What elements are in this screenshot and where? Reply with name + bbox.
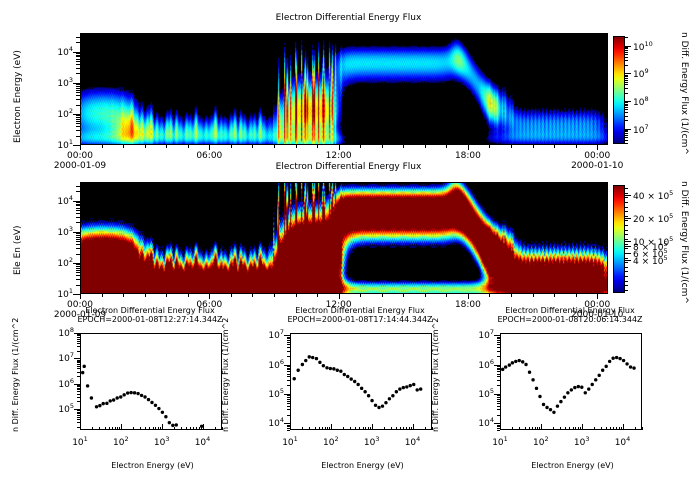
data-point <box>175 423 178 426</box>
colorbar2-tick <box>625 220 628 221</box>
p1-xtick <box>274 145 275 148</box>
p4-xtick <box>290 424 291 430</box>
p2-ytick <box>76 272 80 273</box>
data-point <box>542 403 545 406</box>
p2-ytick-label: 103 <box>47 226 73 238</box>
colorbar2-tick <box>625 234 628 235</box>
data-point <box>388 397 391 400</box>
p1-xtick <box>209 145 210 150</box>
panel1-colorbar-label: n Diff. Energy Flux (1/(cm^ <box>679 32 688 155</box>
colorbar2-tick <box>625 225 628 226</box>
p5-xtick <box>539 427 540 430</box>
p3-ytick <box>77 362 80 363</box>
p1-xtick <box>339 145 340 150</box>
p1-ytick-label: 101 <box>47 139 73 151</box>
data-point <box>367 394 370 397</box>
p1-xtick <box>252 145 253 148</box>
p4-ytick <box>287 371 290 372</box>
p3-ytick <box>77 368 80 369</box>
data-point <box>559 400 562 403</box>
p5-ytick <box>497 430 500 431</box>
p2-xtick <box>166 294 167 297</box>
p5-xtick <box>606 427 607 430</box>
data-point <box>304 359 307 362</box>
p4-ytick <box>287 380 290 381</box>
colorbar2-tick <box>625 285 628 286</box>
data-point <box>339 370 342 373</box>
p1-xtick-label: 00:00 <box>575 152 619 161</box>
p1-ytick <box>76 126 80 127</box>
p1-xtick-label: 18:00 <box>446 152 490 161</box>
data-point <box>409 384 412 387</box>
p1-ytick <box>76 64 80 65</box>
figure-root: Electron Differential Energy Flux Electr… <box>0 0 697 492</box>
p3-xtick <box>193 427 194 430</box>
p3-xtick <box>162 424 163 430</box>
colorbar1-tick <box>625 65 628 66</box>
p1-ytick <box>76 105 80 106</box>
data-point <box>580 386 583 389</box>
p3-xtick <box>199 427 200 430</box>
p4-ytick <box>284 335 290 336</box>
p5-ytick-label: 107 <box>469 329 494 341</box>
p3-xtick <box>203 424 204 430</box>
data-point <box>615 356 618 359</box>
p2-xtick <box>317 294 318 297</box>
data-point <box>563 395 566 398</box>
p3-ytick <box>77 361 80 362</box>
p2-xtick <box>533 294 534 297</box>
p5-ytick <box>494 335 500 336</box>
colorbar1-tick <box>625 116 628 117</box>
p1-ytick-label: 104 <box>47 46 73 58</box>
spectrogram-middle-canvas <box>81 183 607 293</box>
p3-xtick <box>186 427 187 430</box>
p2-ytick <box>76 235 80 236</box>
data-point <box>531 378 534 381</box>
p5-xtick <box>575 427 576 430</box>
data-point <box>632 366 635 369</box>
p4-xtick <box>406 427 407 430</box>
panel5-subtitle: EPOCH=2000-01-08T20:06:14.344Z <box>460 316 680 324</box>
p2-ytick <box>76 213 80 214</box>
p1-xtick <box>382 145 383 148</box>
colorbar1-tick <box>625 102 628 103</box>
panel2-ylabel: Ele En (eV) <box>14 225 23 275</box>
panel1-spectrogram <box>80 33 608 145</box>
p4-xtick <box>309 427 310 430</box>
colorbar1-tick <box>625 73 631 74</box>
data-point <box>350 377 353 380</box>
panel5-plot <box>500 333 642 430</box>
p1-xtick <box>511 145 512 148</box>
p4-xtick-label: 103 <box>356 436 388 448</box>
colorbar1-tick <box>625 112 628 113</box>
p2-ytick <box>76 202 80 203</box>
p2-ytick <box>76 237 80 238</box>
colorbar2-tick <box>625 290 628 291</box>
p1-ytick <box>76 84 80 85</box>
p3-xtick <box>181 427 182 430</box>
panel3-title: Electron Differential Energy Flux <box>40 307 260 315</box>
data-point <box>419 387 422 390</box>
data-point <box>601 369 604 372</box>
colorbar1-tick <box>625 88 628 89</box>
data-point <box>629 365 632 368</box>
data-point <box>511 361 514 364</box>
p5-ytick <box>497 397 500 398</box>
data-point <box>374 404 377 407</box>
p3-ytick <box>77 334 80 335</box>
data-point <box>398 387 401 390</box>
data-point <box>584 391 587 394</box>
p1-ytick <box>76 59 80 60</box>
colorbar2-major-tick <box>625 218 631 219</box>
p3-ytick <box>77 346 80 347</box>
data-point <box>416 388 419 391</box>
p1-ytick <box>76 55 80 56</box>
p3-ytick <box>74 333 80 334</box>
colorbar2-tick <box>625 216 628 217</box>
panel4-xlabel: Electron Energy (eV) <box>280 462 445 470</box>
colorbar2-tick <box>625 197 628 198</box>
p3-ytick <box>77 376 80 377</box>
data-point <box>98 404 101 407</box>
colorbar2-major-tick <box>625 241 631 242</box>
data-point <box>112 398 115 401</box>
p5-xtick-label: 102 <box>525 436 557 448</box>
data-point <box>143 395 146 398</box>
p4-xtick <box>322 427 323 430</box>
data-point <box>150 401 153 404</box>
colorbar1-tick <box>625 60 628 61</box>
p4-ytick <box>287 403 290 404</box>
p1-ytick <box>73 145 80 146</box>
p4-xtick <box>413 424 414 430</box>
p4-ytick <box>287 347 290 348</box>
p5-ytick <box>497 401 500 402</box>
colorbar2-tick-label: 10 × 105 <box>633 236 673 248</box>
p3-ytick <box>77 351 80 352</box>
p5-ytick-label: 106 <box>469 359 494 371</box>
p5-xtick <box>537 427 538 430</box>
p4-xtick-label: 104 <box>397 436 429 448</box>
p5-ytick <box>497 344 500 345</box>
p3-ytick <box>77 391 80 392</box>
colorbar1-tick <box>625 46 631 47</box>
colorbar2-tick <box>625 276 628 277</box>
p4-ytick <box>287 351 290 352</box>
p3-xtick <box>121 424 122 430</box>
data-point <box>90 396 93 399</box>
data-point <box>608 360 611 363</box>
p2-xtick <box>80 294 81 299</box>
p5-ytick <box>497 342 500 343</box>
data-point <box>577 385 580 388</box>
data-point <box>405 385 408 388</box>
colorbar2-major-tick <box>625 246 631 247</box>
data-point <box>377 406 380 409</box>
p2-xtick <box>425 294 426 297</box>
p4-xtick <box>315 427 316 430</box>
p3-xtick <box>115 427 116 430</box>
data-point <box>322 364 325 367</box>
data-point <box>301 363 304 366</box>
p4-xtick-label: 102 <box>315 436 347 448</box>
data-point <box>618 357 621 360</box>
p4-ytick <box>287 369 290 370</box>
p4-xtick <box>403 427 404 430</box>
p1-ytick <box>76 95 80 96</box>
p3-ytick <box>74 358 80 359</box>
p4-ytick <box>284 394 290 395</box>
colorbar2-tick <box>625 188 628 189</box>
data-point <box>119 395 122 398</box>
p4-ytick <box>287 340 290 341</box>
data-point <box>116 396 119 399</box>
p3-xtick <box>117 427 118 430</box>
p5-ytick <box>497 338 500 339</box>
p1-ytick <box>76 119 80 120</box>
p4-xtick <box>319 427 320 430</box>
colorbar1-tick <box>625 57 628 58</box>
panel4-title: Electron Differential Energy Flux <box>250 307 470 315</box>
colorbar1-tick <box>625 131 628 132</box>
panel2-colorbar <box>613 185 625 293</box>
colorbar1-tick <box>625 80 628 81</box>
p2-ytick <box>76 275 80 276</box>
p2-ytick <box>73 201 80 202</box>
p2-xtick <box>252 294 253 297</box>
data-point <box>81 371 84 374</box>
p1-ytick <box>76 117 80 118</box>
data-point <box>126 391 129 394</box>
data-point <box>336 369 339 372</box>
p1-ytick <box>76 68 80 69</box>
p1-ytick <box>76 123 80 124</box>
data-point <box>535 387 538 390</box>
p1-ytick <box>76 121 80 122</box>
p1-ytick <box>76 73 80 74</box>
data-point <box>524 363 527 366</box>
p3-xtick-label: 102 <box>105 436 137 448</box>
data-point <box>343 373 346 376</box>
p2-ytick <box>76 205 80 206</box>
p4-ytick <box>287 376 290 377</box>
panel4-plot <box>290 333 432 430</box>
data-point <box>95 405 98 408</box>
p1-xtick <box>576 145 577 148</box>
data-point <box>384 401 387 404</box>
p1-ytick <box>76 88 80 89</box>
p5-xtick <box>512 427 513 430</box>
p1-ytick <box>76 37 80 38</box>
p2-xtick <box>576 294 577 297</box>
p3-ytick <box>77 394 80 395</box>
p2-xtick <box>489 294 490 297</box>
colorbar2-major-tick <box>625 253 631 254</box>
p2-ytick <box>76 279 80 280</box>
p5-xtick <box>529 427 530 430</box>
data-point <box>164 415 167 418</box>
p1-ytick <box>76 61 80 62</box>
p2-xtick <box>511 294 512 297</box>
data-point <box>353 380 356 383</box>
p1-ytick <box>76 115 80 116</box>
p5-xtick <box>535 427 536 430</box>
p3-xtick <box>158 427 159 430</box>
p1-xtick <box>145 145 146 148</box>
p1-xtick <box>296 145 297 148</box>
p5-xtick <box>541 424 542 430</box>
data-point <box>622 359 625 362</box>
data-point <box>611 357 614 360</box>
p3-xtick <box>133 427 134 430</box>
colorbar1-tick <box>625 104 628 105</box>
colorbar2-tick <box>625 244 628 245</box>
data-point <box>395 390 398 393</box>
p5-ytick <box>497 368 500 369</box>
p5-ytick <box>497 347 500 348</box>
p3-ytick <box>77 389 80 390</box>
data-point <box>370 399 373 402</box>
data-point <box>521 360 524 363</box>
data-point <box>154 404 157 407</box>
p3-ytick <box>77 412 80 413</box>
spectrogram-top-canvas <box>81 34 607 144</box>
p5-xtick <box>610 427 611 430</box>
data-point <box>129 391 132 394</box>
spectrum-1-points <box>81 334 222 430</box>
p4-xtick <box>425 427 426 430</box>
data-point <box>573 386 576 389</box>
colorbar1-tick <box>625 129 631 130</box>
p4-ytick <box>287 397 290 398</box>
panel1-title: Electron Differential Energy Flux <box>0 14 697 23</box>
data-point <box>168 421 171 424</box>
data-point <box>147 398 150 401</box>
colorbar1-tick-label: 107 <box>633 124 649 136</box>
p5-xtick <box>565 427 566 430</box>
colorbar2-tick <box>625 202 628 203</box>
p5-ytick <box>497 366 500 367</box>
data-point <box>552 411 555 414</box>
p4-ytick-label: 107 <box>259 329 284 341</box>
data-point <box>391 394 394 397</box>
p5-ytick <box>497 406 500 407</box>
p1-xtick <box>360 145 361 148</box>
p5-ytick-label: 104 <box>469 417 494 429</box>
p4-xtick <box>368 427 369 430</box>
p4-ytick-label: 106 <box>259 359 284 371</box>
p5-xtick <box>553 427 554 430</box>
p4-ytick <box>287 385 290 386</box>
data-point <box>504 365 507 368</box>
p1-ytick-label: 102 <box>47 108 73 120</box>
colorbar2-tick <box>625 211 628 212</box>
p4-ytick <box>287 401 290 402</box>
p2-ytick <box>76 239 80 240</box>
data-point <box>318 361 321 364</box>
p5-ytick <box>497 340 500 341</box>
p1-xtick <box>188 145 189 148</box>
data-point <box>83 365 86 368</box>
p2-ytick <box>76 210 80 211</box>
data-point <box>140 394 143 397</box>
p1-xtick <box>533 145 534 148</box>
data-point <box>528 371 531 374</box>
data-point <box>363 390 366 393</box>
p3-xtick <box>153 427 154 430</box>
p3-xtick <box>140 427 141 430</box>
p2-ytick <box>76 233 80 234</box>
data-point <box>109 399 112 402</box>
panel2-title: Electron Differential Energy Flux <box>0 163 697 172</box>
p5-xtick <box>619 427 620 430</box>
data-point <box>381 404 384 407</box>
p4-xtick <box>411 427 412 430</box>
colorbar1-tick-label: 108 <box>633 96 649 108</box>
colorbar1-tick <box>625 52 628 53</box>
p1-ytick-label: 103 <box>47 77 73 89</box>
data-point <box>122 393 125 396</box>
data-point <box>594 378 597 381</box>
p4-ytick <box>287 344 290 345</box>
p4-ytick <box>287 368 290 369</box>
data-point <box>402 386 405 389</box>
panel5-xlabel: Electron Energy (eV) <box>490 462 655 470</box>
panel1-ylabel: Electron Energy (eV) <box>14 50 23 143</box>
p2-xtick <box>468 294 469 299</box>
colorbar2-tick <box>625 248 628 249</box>
p4-xtick <box>343 427 344 430</box>
p5-ytick <box>497 369 500 370</box>
colorbar2-tick <box>625 267 628 268</box>
p5-xtick <box>525 427 526 430</box>
p4-ytick <box>287 356 290 357</box>
p3-ytick-label: 107 <box>49 352 74 364</box>
p3-ytick-label: 105 <box>49 403 74 415</box>
colorbar1-tick <box>625 107 628 108</box>
p3-ytick <box>77 364 80 365</box>
p4-ytick <box>287 415 290 416</box>
data-point <box>105 402 108 405</box>
p3-ytick <box>77 337 80 338</box>
p5-ytick <box>494 365 500 366</box>
p4-xtick <box>331 424 332 430</box>
p3-xtick-label: 104 <box>187 436 219 448</box>
data-point <box>346 375 349 378</box>
p2-ytick <box>76 264 80 265</box>
p4-xtick <box>384 427 385 430</box>
p5-xtick <box>519 427 520 430</box>
p4-ytick <box>287 342 290 343</box>
p1-xtick <box>102 145 103 148</box>
p3-ytick <box>77 388 80 389</box>
p2-xtick <box>403 294 404 297</box>
p2-ytick-label: 102 <box>47 257 73 269</box>
p4-xtick <box>370 427 371 430</box>
p5-xtick <box>578 427 579 430</box>
p4-xtick <box>391 427 392 430</box>
p5-xtick <box>532 427 533 430</box>
data-point <box>296 369 299 372</box>
p4-ytick <box>287 430 290 431</box>
colorbar1-tick <box>625 120 628 121</box>
colorbar2-tick <box>625 281 628 282</box>
p5-xtick <box>569 427 570 430</box>
p3-xtick <box>190 427 191 430</box>
